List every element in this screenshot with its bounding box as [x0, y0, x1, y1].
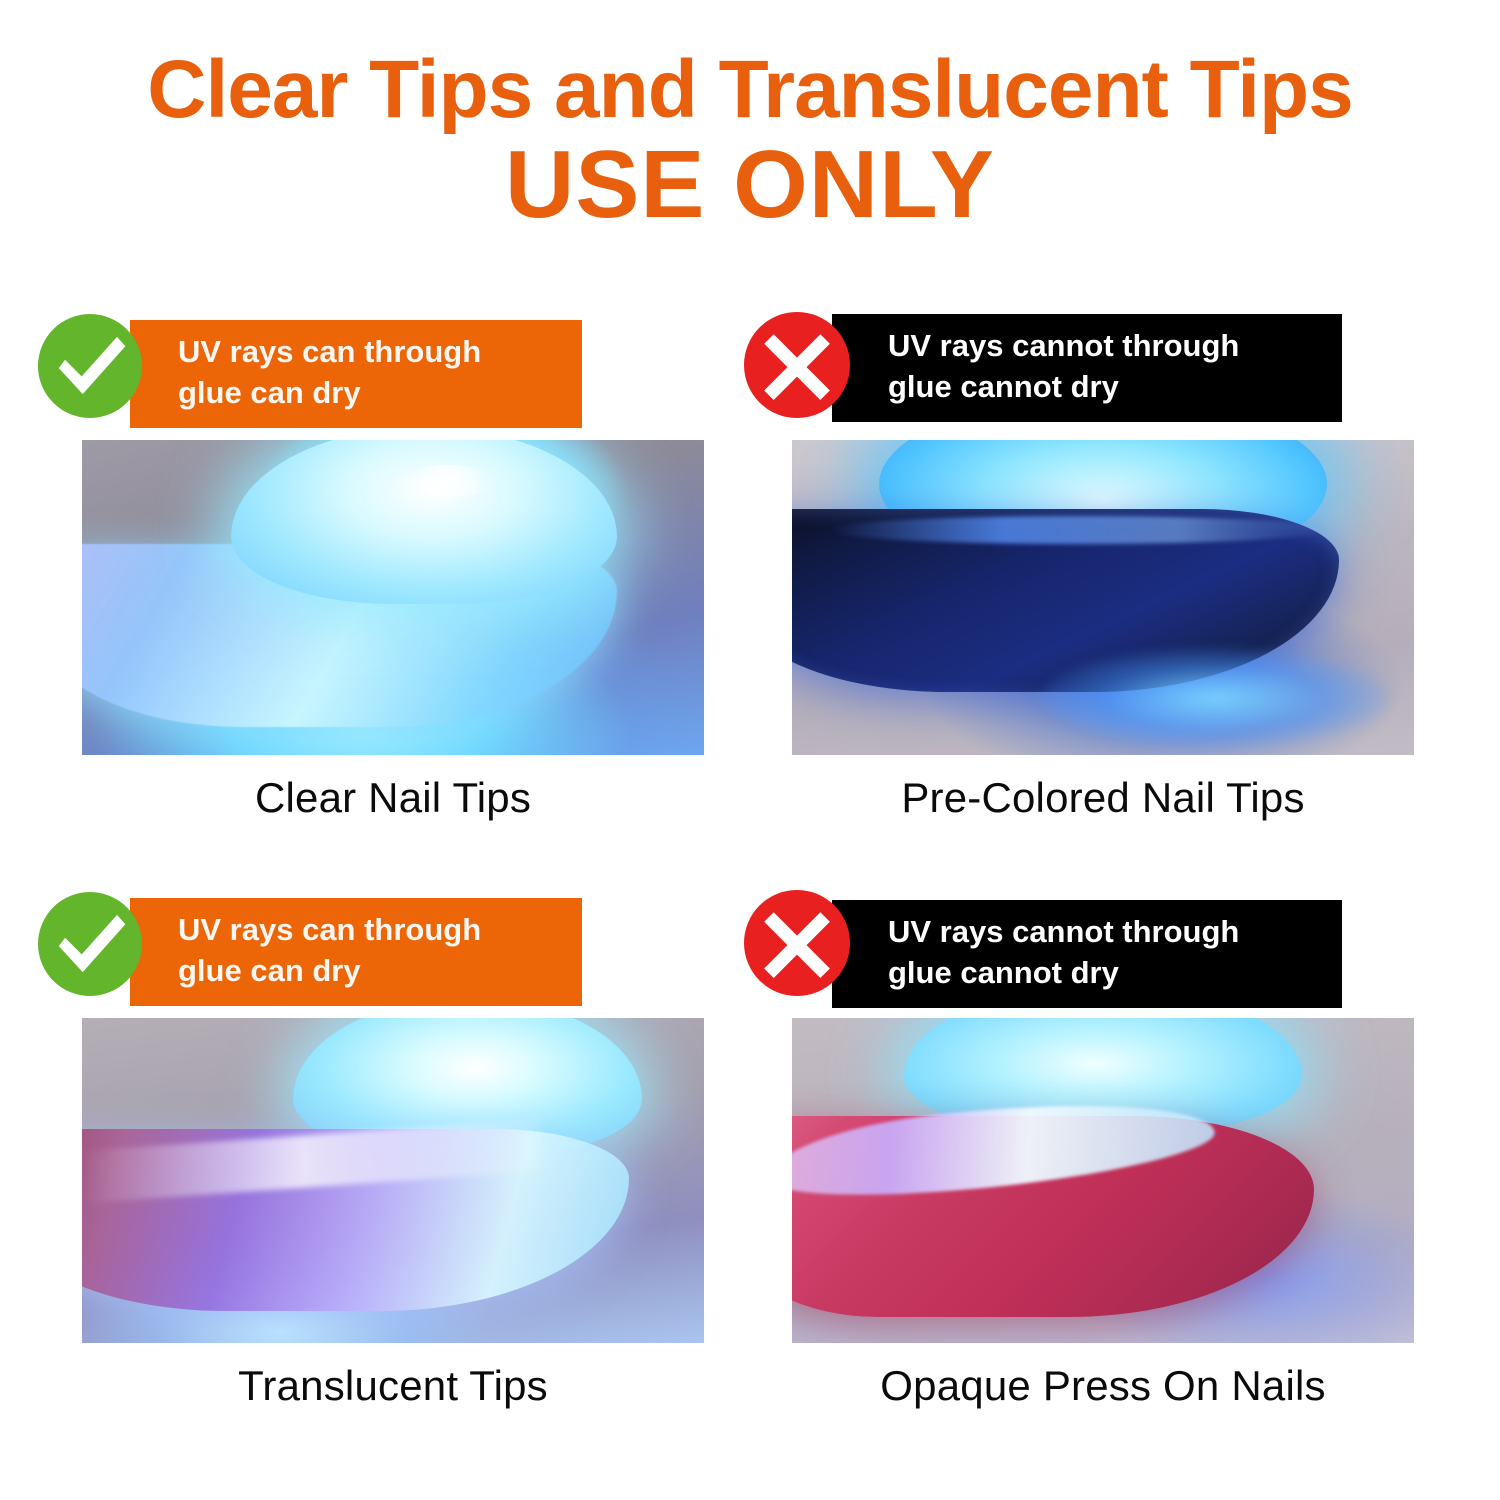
photo-translucent-tips	[82, 1018, 704, 1343]
photo-pre-colored-nail-tips	[792, 440, 1414, 755]
banner-uv-cannot-pass: UV rays cannot through glue cannot dry	[832, 314, 1342, 422]
cross-icon	[744, 890, 850, 996]
banner-line-1: UV rays cannot through	[888, 326, 1328, 367]
check-icon	[38, 314, 142, 418]
photo-opaque-press-on-nails	[792, 1018, 1414, 1343]
banner-line-1: UV rays cannot through	[888, 912, 1328, 953]
banner-line-2: glue cannot dry	[888, 367, 1328, 408]
banner-line-1: UV rays can through	[178, 332, 568, 373]
banner-uv-can-pass: UV rays can through glue can dry	[130, 320, 582, 428]
banner-uv-can-pass: UV rays can through glue can dry	[130, 898, 582, 1006]
banner-line-2: glue can dry	[178, 951, 568, 992]
banner-uv-cannot-pass: UV rays cannot through glue cannot dry	[832, 900, 1342, 1008]
page-title: Clear Tips and Translucent Tips USE ONLY	[0, 48, 1500, 234]
title-line-2: USE ONLY	[0, 136, 1500, 234]
caption-clear-nail-tips: Clear Nail Tips	[82, 774, 704, 822]
photo-clear-nail-tips	[82, 440, 704, 755]
title-line-1: Clear Tips and Translucent Tips	[0, 48, 1500, 132]
caption-translucent-tips: Translucent Tips	[82, 1362, 704, 1410]
banner-line-1: UV rays can through	[178, 910, 568, 951]
banner-line-2: glue cannot dry	[888, 953, 1328, 994]
comparison-cell-clear-nail-tips: UV rays can through glue can dry Clear N…	[30, 312, 740, 882]
comparison-cell-opaque-press-on-nails: UV rays cannot through glue cannot dry O…	[740, 890, 1450, 1460]
caption-opaque-press-on-nails: Opaque Press On Nails	[792, 1362, 1414, 1410]
comparison-cell-pre-colored-nail-tips: UV rays cannot through glue cannot dry P…	[740, 312, 1450, 882]
infographic-page: Clear Tips and Translucent Tips USE ONLY…	[0, 0, 1500, 1500]
comparison-cell-translucent-tips: UV rays can through glue can dry Translu…	[30, 890, 740, 1460]
banner-line-2: glue can dry	[178, 373, 568, 414]
check-icon	[38, 892, 142, 996]
caption-pre-colored-nail-tips: Pre-Colored Nail Tips	[792, 774, 1414, 822]
cross-icon	[744, 312, 850, 418]
comparison-grid: UV rays can through glue can dry Clear N…	[0, 312, 1500, 1492]
